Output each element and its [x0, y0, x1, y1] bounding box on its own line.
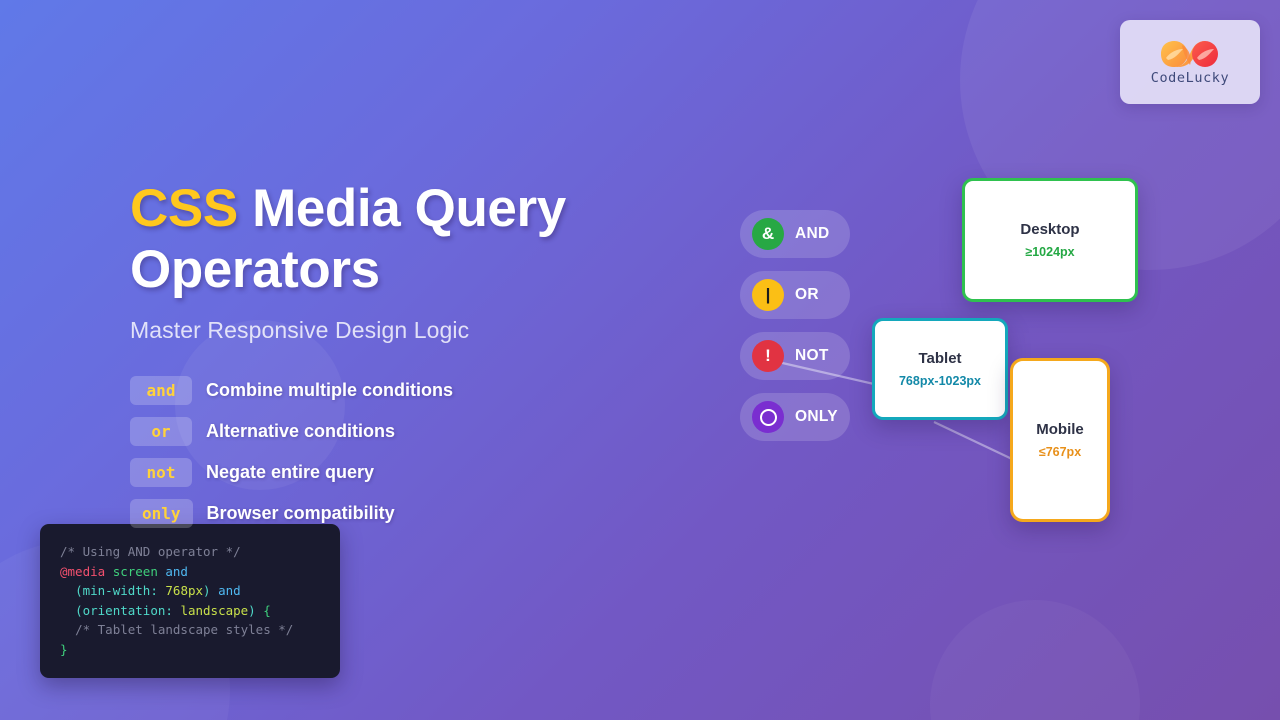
device-range-mobile: ≤767px: [1039, 445, 1081, 459]
code-token-at-media: @media: [60, 564, 105, 579]
list-item: only Browser compatibility: [130, 499, 660, 528]
device-card-tablet[interactable]: Tablet 768px-1023px: [872, 318, 1008, 420]
operator-code-and: and: [130, 376, 192, 405]
code-token-paren-close-2: ): [248, 603, 256, 618]
pipe-icon: |: [752, 279, 784, 311]
code-token-landscape: landscape: [180, 603, 248, 618]
exclamation-icon: !: [752, 340, 784, 372]
title-accent: CSS: [130, 179, 238, 238]
code-token-paren-open-2: (: [75, 603, 83, 618]
ampersand-icon: &: [752, 218, 784, 250]
hero-section: CSS Media Query Operators Master Respons…: [130, 178, 660, 528]
operator-code-not: not: [130, 458, 192, 487]
device-range-desktop: ≥1024px: [1025, 245, 1074, 259]
pill-or[interactable]: | OR: [740, 271, 850, 319]
device-name-tablet: Tablet: [918, 350, 961, 367]
device-name-mobile: Mobile: [1036, 421, 1084, 438]
page-title: CSS Media Query Operators: [130, 178, 660, 301]
pill-only[interactable]: ONLY: [740, 393, 850, 441]
code-token-orientation: orientation:: [83, 603, 173, 618]
device-range-tablet: 768px-1023px: [899, 374, 981, 388]
operator-code-only: only: [130, 499, 193, 528]
list-item: not Negate entire query: [130, 458, 660, 487]
code-token-screen: screen: [113, 564, 158, 579]
device-card-mobile[interactable]: Mobile ≤767px: [1010, 358, 1110, 522]
operator-desc-and: Combine multiple conditions: [206, 380, 453, 401]
code-token-and-1: and: [165, 564, 188, 579]
pill-label-or: OR: [795, 286, 819, 304]
decorative-circle-bottom-right: [930, 600, 1140, 720]
code-line-comment-2: /* Tablet landscape styles */: [75, 622, 293, 637]
code-token-paren-open-1: (: [75, 583, 83, 598]
code-token-and-2: and: [218, 583, 241, 598]
operator-desc-or: Alternative conditions: [206, 421, 395, 442]
code-token-brace-close: }: [60, 642, 68, 657]
connector-tablet-to-mobile: [934, 422, 1012, 459]
slide-canvas: CodeLucky CSS Media Query Operators Mast…: [0, 0, 1280, 720]
pill-label-only: ONLY: [795, 408, 838, 426]
code-token-min-width: min-width:: [83, 583, 158, 598]
pill-label-and: AND: [795, 225, 829, 243]
code-line-comment-1: /* Using AND operator */: [60, 544, 241, 559]
code-token-paren-close-1: ): [203, 583, 211, 598]
device-name-desktop: Desktop: [1020, 221, 1079, 238]
pill-label-not: NOT: [795, 347, 829, 365]
page-subtitle: Master Responsive Design Logic: [130, 317, 660, 344]
pill-not[interactable]: ! NOT: [740, 332, 850, 380]
operator-desc-not: Negate entire query: [206, 462, 374, 483]
code-token-768px: 768px: [165, 583, 203, 598]
circle-ring-icon: [752, 401, 784, 433]
device-card-desktop[interactable]: Desktop ≥1024px: [962, 178, 1138, 302]
operator-pills-group: & AND | OR ! NOT ONLY: [740, 210, 850, 441]
operators-list: and Combine multiple conditions or Alter…: [130, 376, 660, 528]
brand-logo-badge: CodeLucky: [1120, 20, 1260, 104]
infinity-leaf-logo-icon: [1159, 39, 1221, 69]
code-snippet-block: /* Using AND operator */ @media screen a…: [40, 524, 340, 678]
operator-desc-only: Browser compatibility: [207, 503, 395, 524]
operator-code-or: or: [130, 417, 192, 446]
pill-and[interactable]: & AND: [740, 210, 850, 258]
brand-name: CodeLucky: [1151, 70, 1230, 86]
list-item: and Combine multiple conditions: [130, 376, 660, 405]
list-item: or Alternative conditions: [130, 417, 660, 446]
code-token-brace-open: {: [263, 603, 271, 618]
